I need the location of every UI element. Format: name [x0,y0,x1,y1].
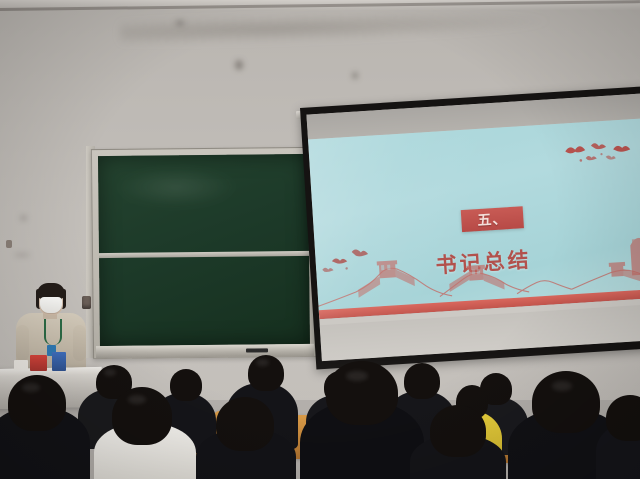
face-mask-icon [40,297,62,313]
projection-screen: 五、 书记总结 [300,86,640,369]
student-head [430,405,486,457]
chalkboard-surface [98,154,310,346]
flying-birds-top-right-icon [561,135,639,168]
green-chalkboard [91,147,317,359]
hair-highlight [128,395,146,404]
wall-stain-spot [352,72,358,79]
wall-stain-band [120,8,551,46]
seated-students [0,349,640,479]
classroom-photo: 五、 书记总结 [0,0,640,479]
projected-slide: 五、 书记总结 [308,119,640,320]
student-head [170,369,202,401]
student-head [404,363,440,399]
student-head [606,395,640,441]
hair-highlight [256,359,269,366]
slide-badge-label: 五、 [477,211,508,227]
wall-stain-spot [235,60,243,70]
hair-highlight [104,369,116,376]
wall-stain-spot [20,215,27,221]
wall-stain-spot [175,20,185,26]
hair-highlight [346,371,368,381]
slide-section-badge: 五、 [461,206,524,232]
wall-stain-spot [14,253,30,257]
hair-highlight [22,383,40,392]
presenter-lanyard [44,319,62,345]
wall-socket [6,240,12,248]
hair-highlight [552,381,572,391]
chalk-smudge [116,167,236,208]
student-head [532,371,600,433]
student-head [216,397,274,451]
screen-canvas: 五、 书记总结 [306,94,640,362]
